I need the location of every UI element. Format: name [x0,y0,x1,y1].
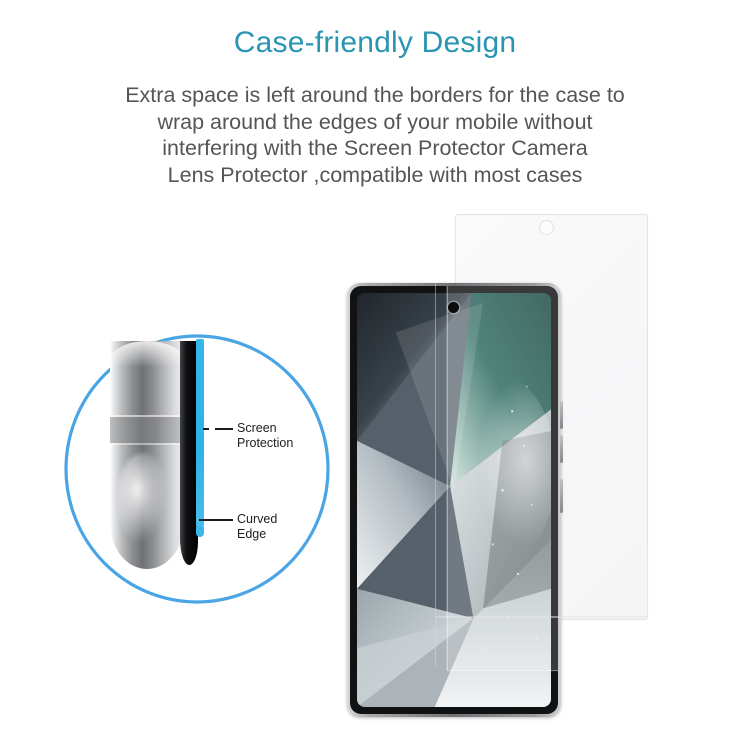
phone-frame [347,283,561,717]
callout-curved-edge-line-1: Curved [237,512,277,526]
phone-device [347,283,561,717]
volume-up-button[interactable] [560,401,563,429]
description-text: Extra space is left around the borders f… [22,82,728,188]
screen-protection-layer [196,339,204,529]
front-camera-punch-hole [448,302,459,313]
screen-protection-leader-line [215,428,233,430]
phone-screen [357,293,551,707]
power-button[interactable] [560,479,563,513]
description-line-3: interfering with the Screen Protector Ca… [22,135,728,162]
callout-curved-edge: Curved Edge [237,512,277,541]
callout-curved-edge-line-2: Edge [237,527,266,541]
camera-cutout-icon [539,220,554,235]
volume-down-button[interactable] [560,435,563,463]
antenna-band [110,417,184,443]
edge-cross-section [110,341,216,569]
screen-protection-leader-tick [203,428,209,430]
magnified-edge-diagram: Screen Protection Curved Edge [62,333,332,605]
phone-body-highlight [118,453,168,545]
curved-edge-leader-line [199,519,233,521]
product-feature-image: Case-friendly Design Extra space is left… [0,0,750,750]
callout-screen-protection: Screen Protection [237,421,293,450]
phone-bezel [350,286,558,714]
callout-screen-protection-line-2: Protection [237,436,293,450]
description-line-4: Lens Protector ,compatible with most cas… [22,162,728,189]
curved-edge-sheen [180,341,186,563]
callout-screen-protection-line-1: Screen [237,421,277,435]
screen-protection-layer-end [196,527,204,537]
description-line-2: wrap around the edges of your mobile wit… [22,109,728,136]
description-line-1: Extra space is left around the borders f… [22,82,728,109]
antenna-band-bottom-line [110,443,184,445]
page-title: Case-friendly Design [0,26,750,60]
